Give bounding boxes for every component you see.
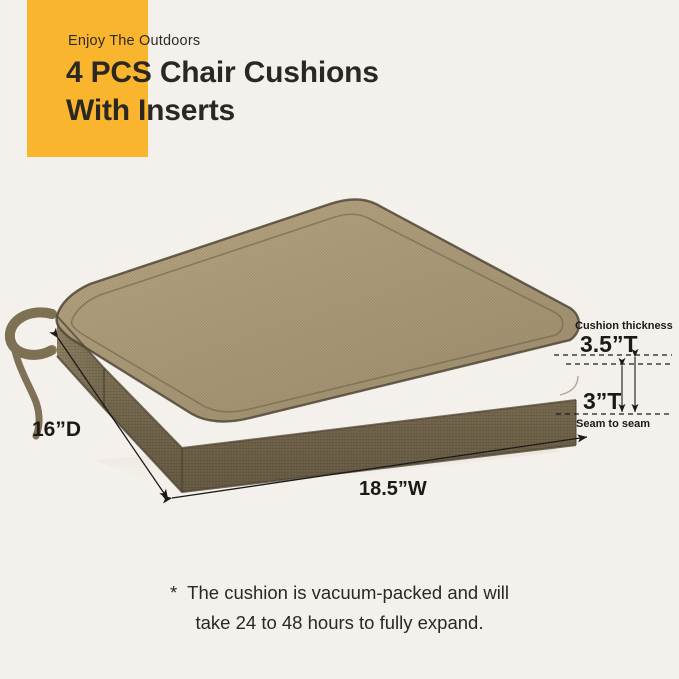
footnote-line-2: take 24 to 48 hours to fully expand. [0,608,679,638]
seam-caption: Seam to seam [576,418,650,430]
title-line-1: 4 PCS Chair Cushions [66,56,379,89]
page-title: 4 PCS Chair Cushions With Inserts [66,54,586,130]
width-label: 18.5”W [359,478,427,501]
seam-thickness-label: 3”T [583,388,621,415]
cushion-illustration [0,180,679,530]
footnote-star: * [170,582,177,603]
title-line-2: With Inserts [66,92,586,130]
footnote-line-1: The cushion is vacuum-packed and will [187,582,509,603]
depth-label: 16”D [32,418,81,442]
infographic-canvas: Enjoy The Outdoors 4 PCS Chair Cushions … [0,0,679,679]
footnote: *The cushion is vacuum-packed and will t… [0,578,679,638]
eyebrow-text: Enjoy The Outdoors [68,33,200,49]
total-thickness-label: 3.5”T [580,331,638,358]
